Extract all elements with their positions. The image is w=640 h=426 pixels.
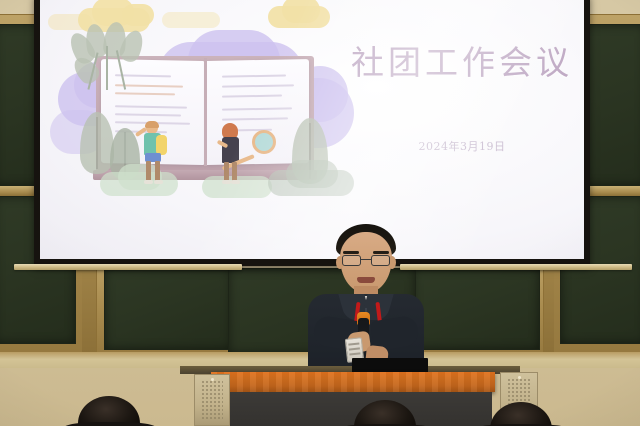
person-torso [222,137,239,163]
presentation-slide: 社团工作会议 2024年3月19日 [40,0,584,259]
book-line [223,107,293,110]
leaf-vein [97,117,98,169]
person-shoe-right [154,180,163,184]
person-leg-right [232,162,237,182]
audience-shoulder-left [64,422,156,426]
eyeglass-bridge [361,259,371,260]
eyeglasses [342,255,390,266]
person-shoe-left [144,180,153,184]
screen-surface: 社团工作会议 2024年3月19日 [40,0,584,259]
podium-body [214,392,492,426]
slide-person-investigator [216,124,278,186]
plant-leaf [69,53,102,87]
presenter-eyebrow-right [373,251,389,254]
plant-stem [106,46,108,90]
slide-person-reader [136,122,170,184]
book-spine [204,58,207,166]
potted-plant-illustration [70,22,148,90]
magnifying-glass-lens [252,130,276,154]
speaker-grille [201,380,223,421]
book-line [115,93,175,96]
presenter-mouth [357,277,375,283]
book-line [115,113,181,116]
book-line [223,95,283,98]
cloud-yellow-4 [162,12,220,28]
person-leg-left [224,162,229,182]
person-backpack [156,135,167,155]
slide-date: 2024年3月19日 [336,138,584,154]
chalk-rail [14,264,242,270]
presenter-eyebrow-left [343,251,359,254]
lecture-hall-photo: 社团工作会议 2024年3月19日 [0,0,640,426]
person-leg-left [146,161,151,182]
center-left-lower-chalkboard [104,268,232,350]
podium-top [211,372,495,392]
eyeglass-lens-right [371,255,390,266]
book-line [223,118,289,121]
person-shoe-left [222,180,231,184]
cloud-yellow-2b [282,0,320,23]
person-hair [145,121,159,128]
book-line [115,105,187,108]
person-leg-right [155,161,160,182]
slide-title: 社团工作会议 [336,36,584,84]
person-shoe-right [231,180,240,184]
eyeglass-lens-left [342,255,361,266]
book-line [223,84,295,87]
bush-green-right-b [286,160,338,188]
book-line [223,74,287,77]
left-speaker [194,374,230,426]
